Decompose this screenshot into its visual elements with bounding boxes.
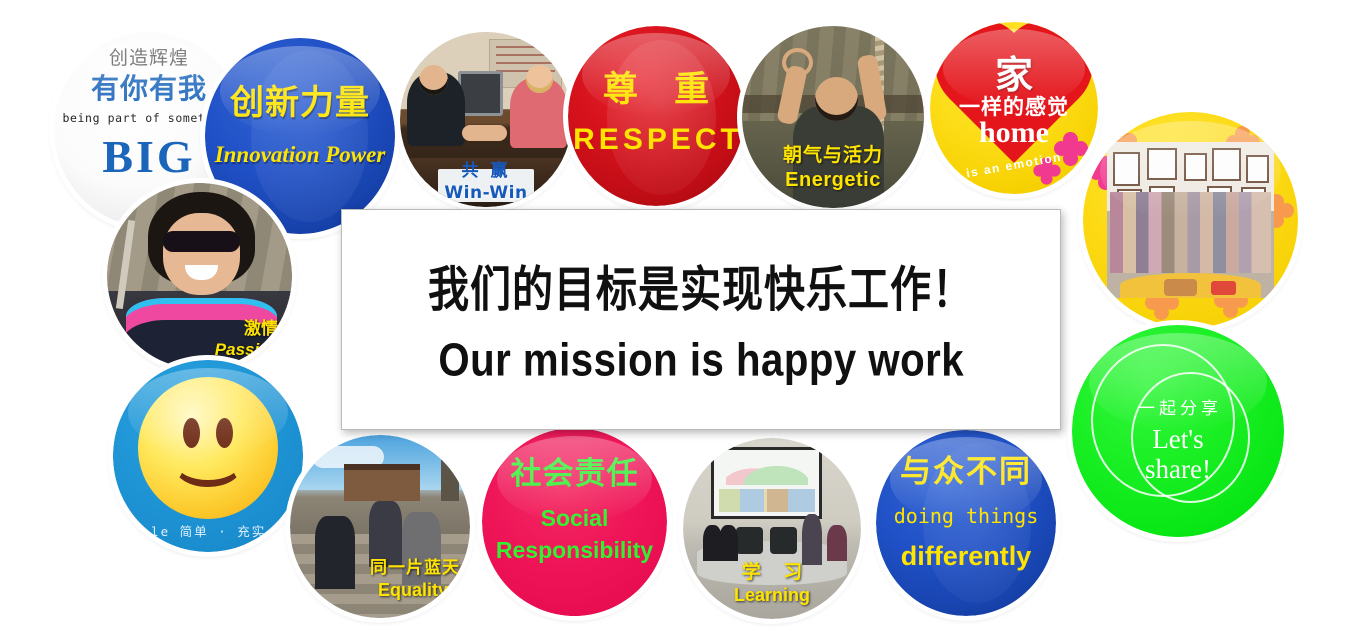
badge-surface: 激情 Passion: [107, 183, 292, 369]
values-collage: 创造辉煌 有你有我 being part of something BIG 创新…: [0, 0, 1366, 635]
badge-learning[interactable]: 学 习 Learning: [683, 438, 861, 619]
badge-text-zh: 共 赢: [400, 163, 572, 181]
badge-text-en-line1: doing things: [876, 506, 1056, 527]
badge-text-en-line2: Responsibility: [482, 538, 667, 562]
mission-line-zh: 我们的目标是实现快乐工作！: [428, 250, 974, 321]
inner-shade: [607, 40, 716, 195]
badge-surface: 同一片蓝天 Equality: [290, 435, 470, 618]
badge-doing-things-differently[interactable]: 与众不同 doing things differently: [876, 430, 1056, 616]
badge-text-zh: 一起分享: [1072, 401, 1284, 419]
badge-text-zh: 与众不同: [876, 456, 1056, 489]
badge-text-en: RESPECT: [568, 124, 744, 156]
badge-text-en-line1: Social: [482, 506, 667, 530]
badge-text-en: Energetic: [742, 170, 924, 191]
photo-team-group: [1107, 142, 1275, 298]
badge-text-en: home: [930, 116, 1098, 150]
badge-text-zh: 尊 重: [568, 72, 744, 109]
badge-text-en-line2: share!: [1072, 455, 1284, 483]
badge-surface: 学 习 Learning: [683, 438, 861, 619]
badge-text-en: Learning: [683, 586, 861, 605]
badge-text-en-line2: differently: [876, 542, 1056, 570]
badge-team-photo[interactable]: [1083, 112, 1298, 328]
badge-passion[interactable]: 激情 Passion: [107, 183, 292, 369]
badge-social-responsibility[interactable]: 社会责任 Social Responsibility: [482, 428, 667, 616]
smiley-face-icon: [138, 377, 279, 519]
badge-text-en: Passion: [215, 341, 280, 359]
badge-surface: 家 一样的感觉 home is an emotion: [930, 22, 1098, 194]
badge-lets-share[interactable]: 一起分享 Let's share!: [1072, 325, 1284, 537]
badge-surface: 朝气与活力 Energetic: [742, 26, 924, 208]
badge-surface: Simple 简单 · 充实 Rich: [113, 360, 303, 552]
badge-text-en: Win-Win: [400, 185, 572, 203]
mission-line-en: Our mission is happy work: [438, 334, 964, 387]
badge-text-zh: 学 习: [683, 563, 861, 583]
badge-home-is-an-emotion[interactable]: 家 一样的感觉 home is an emotion: [930, 22, 1098, 194]
badge-text-en: Equality: [378, 581, 448, 600]
badge-text-en-line1: Let's: [1072, 425, 1284, 453]
badge-surface: 尊 重 RESPECT: [568, 26, 744, 206]
badge-text-zh: 朝气与活力: [742, 146, 924, 166]
badge-surface: 共 赢 Win-Win: [400, 32, 572, 207]
badge-text-zh-top: 创造辉煌: [54, 49, 244, 69]
badge-text-en: Innovation Power: [205, 143, 395, 167]
badge-surface: [1083, 112, 1298, 328]
badge-equality[interactable]: 同一片蓝天 Equality: [290, 435, 470, 618]
badge-text-zh: 创新力量: [205, 86, 395, 122]
badge-simple-rich-smiley[interactable]: Simple 简单 · 充实 Rich: [113, 360, 303, 552]
badge-text-zh: 同一片蓝天: [370, 560, 460, 578]
badge-win-win[interactable]: 共 赢 Win-Win: [400, 32, 572, 207]
badge-text-caption: Simple 简单 · 充实 Rich: [113, 525, 303, 538]
mission-statement-banner: 我们的目标是实现快乐工作！ Our mission is happy work: [341, 209, 1061, 430]
badge-respect[interactable]: 尊 重 RESPECT: [568, 26, 744, 206]
badge-energetic[interactable]: 朝气与活力 Energetic: [742, 26, 924, 208]
badge-surface: 社会责任 Social Responsibility: [482, 428, 667, 616]
badge-surface: 一起分享 Let's share!: [1072, 325, 1284, 537]
badge-text-zh: 激情: [244, 321, 278, 339]
badge-text-zh: 社会责任: [482, 458, 667, 491]
badge-surface: 与众不同 doing things differently: [876, 430, 1056, 616]
